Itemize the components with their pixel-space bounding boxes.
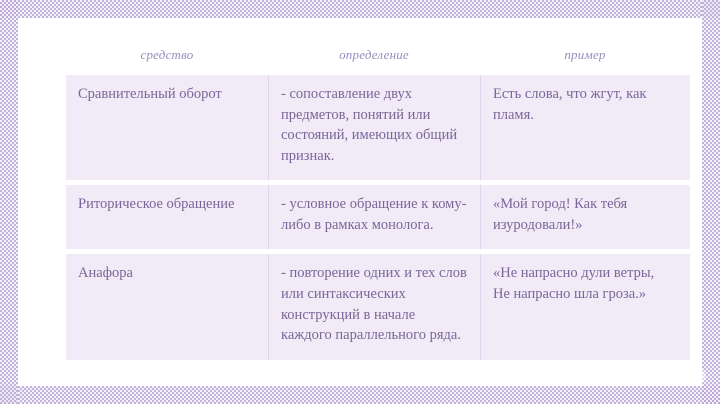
definition-text: - условное обращение к кому-либо в рамка… [281,194,468,235]
table-header-row: средство определение пример [66,47,690,70]
table-row: Анафора - повторение одних и тех слов ил… [66,254,690,359]
table-container: средство определение пример Сравнительны… [66,42,690,365]
term-text: Анафора [78,263,256,284]
table-body: Сравнительный оборот - сопоставление дву… [66,75,690,360]
cell-term: Сравнительный оборот [66,75,268,180]
table-row: Риторическое обращение - условное обраще… [66,185,690,249]
column-header-term: средство [66,47,268,70]
decorative-border-bottom [0,386,720,404]
column-header-example: пример [480,47,690,70]
cell-definition: - повторение одних и тех слов или синтак… [268,254,480,359]
cell-term: Риторическое обращение [66,185,268,249]
cell-definition: - сопоставление двух предметов, понятий … [268,75,480,180]
definition-text: - сопоставление двух предметов, понятий … [281,84,468,166]
cell-example: Есть слова, что жгут, как пламя. [480,75,690,180]
table-row: Сравнительный оборот - сопоставление дву… [66,75,690,180]
cell-example: «Не напрасно дули ветры, Не напрасно шла… [480,254,690,359]
expressive-means-table: средство определение пример Сравнительны… [66,42,690,365]
cell-term: Анафора [66,254,268,359]
example-text: «Не напрасно дули ветры, Не напрасно шла… [493,263,678,304]
decorative-border-top [0,0,720,18]
example-text: «Мой город! Как тебя изуродовали!» [493,194,678,235]
term-text: Сравнительный оборот [78,84,256,105]
cell-example: «Мой город! Как тебя изуродовали!» [480,185,690,249]
table-header: средство определение пример [66,47,690,70]
example-text: Есть слова, что жгут, как пламя. [493,84,678,125]
decorative-border-left [0,0,18,404]
column-header-definition: определение [268,47,480,70]
slide-page: средство определение пример Сравнительны… [0,0,720,404]
decorative-border-right [702,0,720,404]
slide-canvas: средство определение пример Сравнительны… [18,18,702,386]
definition-text: - повторение одних и тех слов или синтак… [281,263,468,345]
term-text: Риторическое обращение [78,194,256,215]
cell-definition: - условное обращение к кому-либо в рамка… [268,185,480,249]
